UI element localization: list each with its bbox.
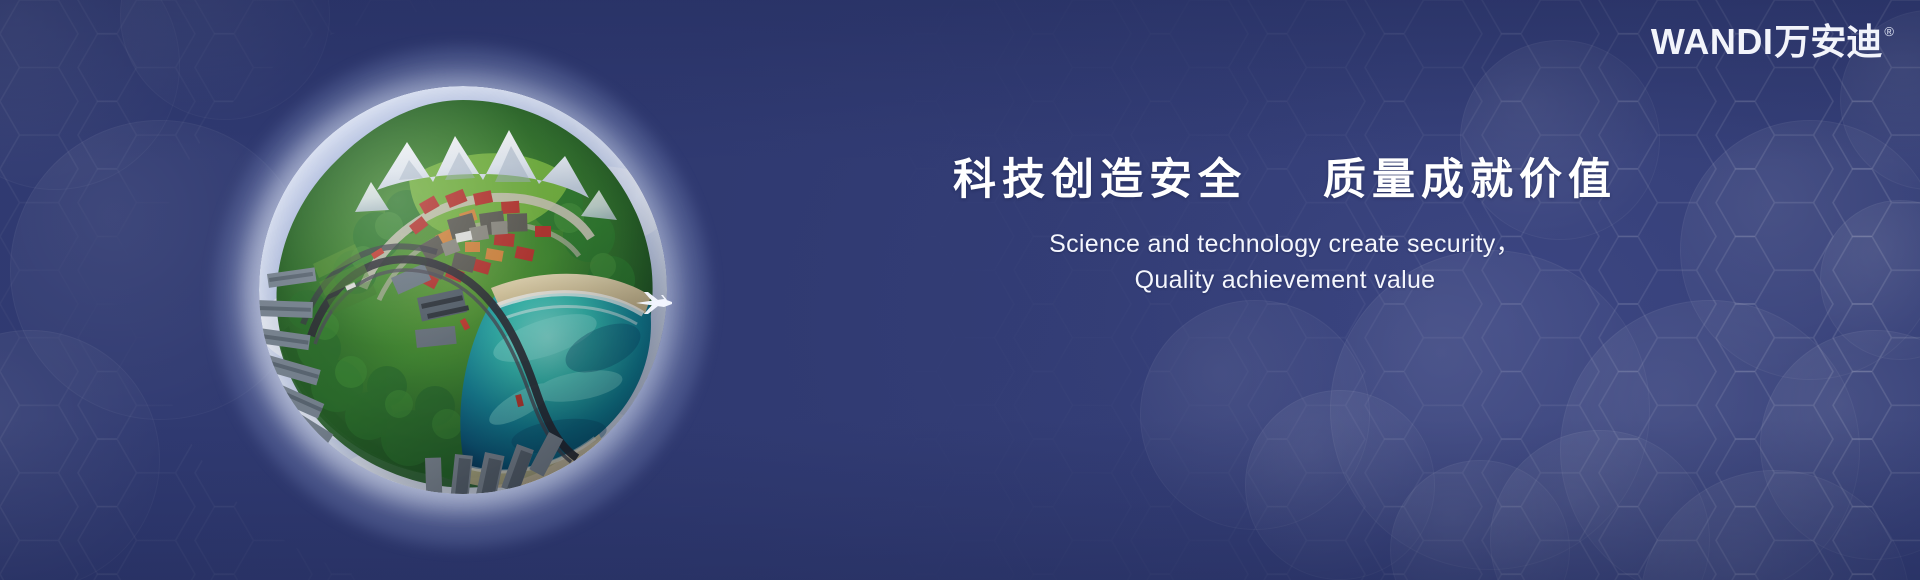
headline: 科技创造安全 质量成就价值 bbox=[905, 155, 1665, 206]
subtitle-line-2: Quality achievement value bbox=[905, 262, 1665, 298]
planet-sphere bbox=[259, 86, 667, 494]
brand-logo[interactable]: WANDI 万安迪 ® bbox=[1651, 24, 1894, 60]
logo-latin-text: WANDI bbox=[1651, 24, 1774, 60]
subtitle-line-1: Science and technology create security， bbox=[905, 226, 1665, 262]
registered-trademark-icon: ® bbox=[1884, 25, 1894, 38]
headline-right: 质量成就价值 bbox=[1323, 156, 1617, 204]
logo-cjk-text: 万安迪 bbox=[1774, 24, 1882, 60]
banner-copy: 科技创造安全 质量成就价值 Science and technology cre… bbox=[905, 155, 1665, 298]
tiny-planet-graphic bbox=[236, 62, 688, 532]
promo-banner: WANDI 万安迪 ® 科技创造安全 质量成就价值 Science and te… bbox=[0, 0, 1920, 580]
airplane-icon bbox=[634, 290, 674, 316]
subtitle: Science and technology create security， … bbox=[905, 226, 1665, 299]
headline-left: 科技创造安全 bbox=[953, 156, 1247, 204]
